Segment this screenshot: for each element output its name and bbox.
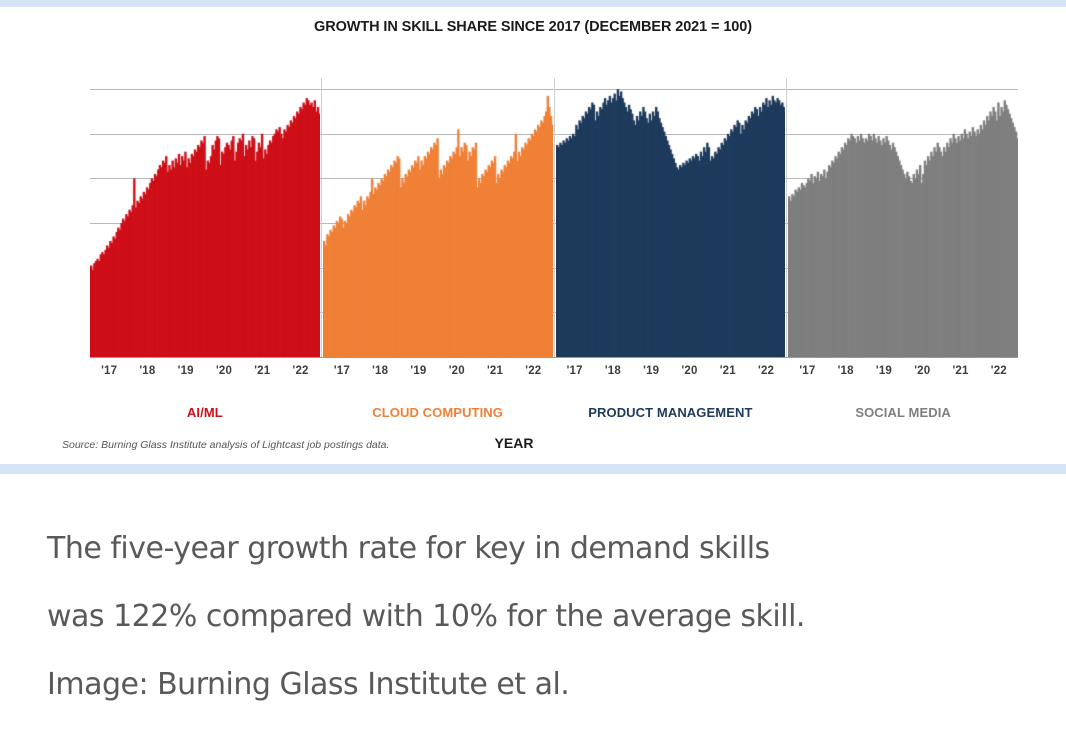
top-divider-rule	[0, 0, 1066, 7]
chart-panel	[323, 78, 553, 357]
caption-line-3: Image: Burning Glass Institute et al.	[47, 651, 1047, 719]
caption-line-2: was 122% compared with 10% for the avera…	[47, 583, 1047, 651]
x-axis-tick-label: '17	[92, 365, 126, 377]
x-axis-tick-label: '20	[207, 365, 241, 377]
x-axis-tick-label: '22	[516, 365, 550, 377]
x-axis-tick-label: '21	[944, 365, 978, 377]
x-axis-tick-label: '19	[169, 365, 203, 377]
x-axis-tick-label: '19	[867, 365, 901, 377]
chart-panel	[788, 78, 1018, 357]
article-figure-page: GROWTH IN SKILL SHARE SINCE 2017 (DECEMB…	[0, 0, 1066, 729]
x-axis-tick-label: '17	[325, 365, 359, 377]
panel-bars	[323, 78, 553, 357]
panel-label: SOCIAL MEDIA	[743, 405, 1063, 420]
gridline	[90, 357, 1018, 358]
x-axis-tick-label: '18	[363, 365, 397, 377]
x-axis-tick-label: '21	[245, 365, 279, 377]
chart-panel	[556, 78, 786, 357]
panel-divider	[321, 78, 322, 357]
x-axis-tick-label: '22	[284, 365, 318, 377]
x-axis-tick-label: '19	[634, 365, 668, 377]
panel-divider	[786, 78, 787, 357]
x-axis-tick-label: '17	[558, 365, 592, 377]
x-axis-tick-label: '22	[982, 365, 1016, 377]
chart-panel	[90, 78, 320, 357]
panel-bars	[788, 78, 1018, 357]
panel-divider	[554, 78, 555, 357]
x-axis-tick-label: '20	[673, 365, 707, 377]
caption-line-1: The five-year growth rate for key in dem…	[47, 515, 1047, 583]
x-axis-tick-label: '21	[711, 365, 745, 377]
x-axis-tick-label: '19	[401, 365, 435, 377]
x-axis-tick-label: '20	[905, 365, 939, 377]
bottom-divider-rule	[0, 464, 1066, 474]
panel-bars	[90, 78, 320, 357]
x-axis-tick-row: '17'18'19'20'21'22'17'18'19'20'21'22'17'…	[0, 365, 1066, 385]
chart-figure: GROWTH IN SKILL SHARE SINCE 2017 (DECEMB…	[0, 7, 1066, 464]
x-axis-tick-label: '17	[790, 365, 824, 377]
x-axis-tick-label: '18	[596, 365, 630, 377]
x-axis-tick-label: '18	[829, 365, 863, 377]
x-axis-tick-label: '22	[749, 365, 783, 377]
panel-bars	[556, 78, 786, 357]
x-axis-tick-label: '20	[440, 365, 474, 377]
source-note: Source: Burning Glass Institute analysis…	[62, 439, 389, 451]
x-axis-tick-label: '18	[130, 365, 164, 377]
x-axis-tick-label: '21	[478, 365, 512, 377]
x-axis-label: YEAR	[424, 435, 604, 451]
plot-area: 020406080100120	[90, 78, 1018, 357]
chart-title: GROWTH IN SKILL SHARE SINCE 2017 (DECEMB…	[0, 19, 1066, 35]
figure-caption: The five-year growth rate for key in dem…	[47, 515, 1047, 719]
